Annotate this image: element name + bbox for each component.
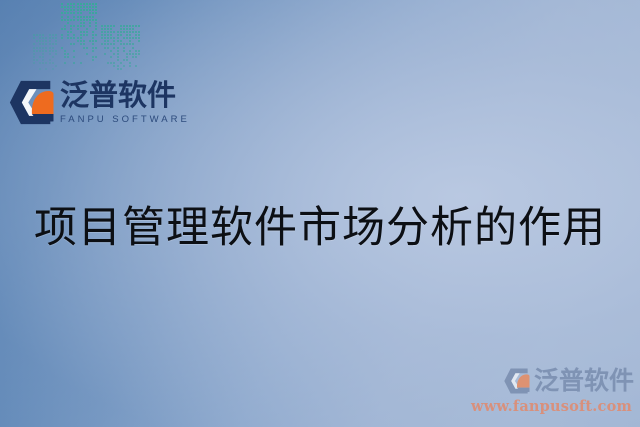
brand-wordmark: 泛普软件 FANPU SOFTWARE xyxy=(60,82,190,125)
watermark-hexagon-logo-mark-icon xyxy=(503,368,530,394)
brand-name-en: FANPU SOFTWARE xyxy=(60,114,190,125)
brand-logo: 泛普软件 FANPU SOFTWARE xyxy=(8,80,190,125)
banner-image: 泛普软件 FANPU SOFTWARE 项目管理软件市场分析的作用 泛普软件 w… xyxy=(0,0,640,427)
brand-name-cn: 泛普软件 xyxy=(60,82,190,111)
watermark-name-cn: 泛普软件 xyxy=(534,369,634,394)
watermark: 泛普软件 www.fanpusoft.com xyxy=(471,368,634,415)
pixel-dot-matrix-icon xyxy=(33,0,149,78)
watermark-url: www.fanpusoft.com xyxy=(471,398,632,415)
watermark-logo-row: 泛普软件 xyxy=(471,368,634,394)
page-title: 项目管理软件市场分析的作用 xyxy=(0,203,640,254)
fanpu-hexagon-logo-mark-icon xyxy=(8,80,54,125)
